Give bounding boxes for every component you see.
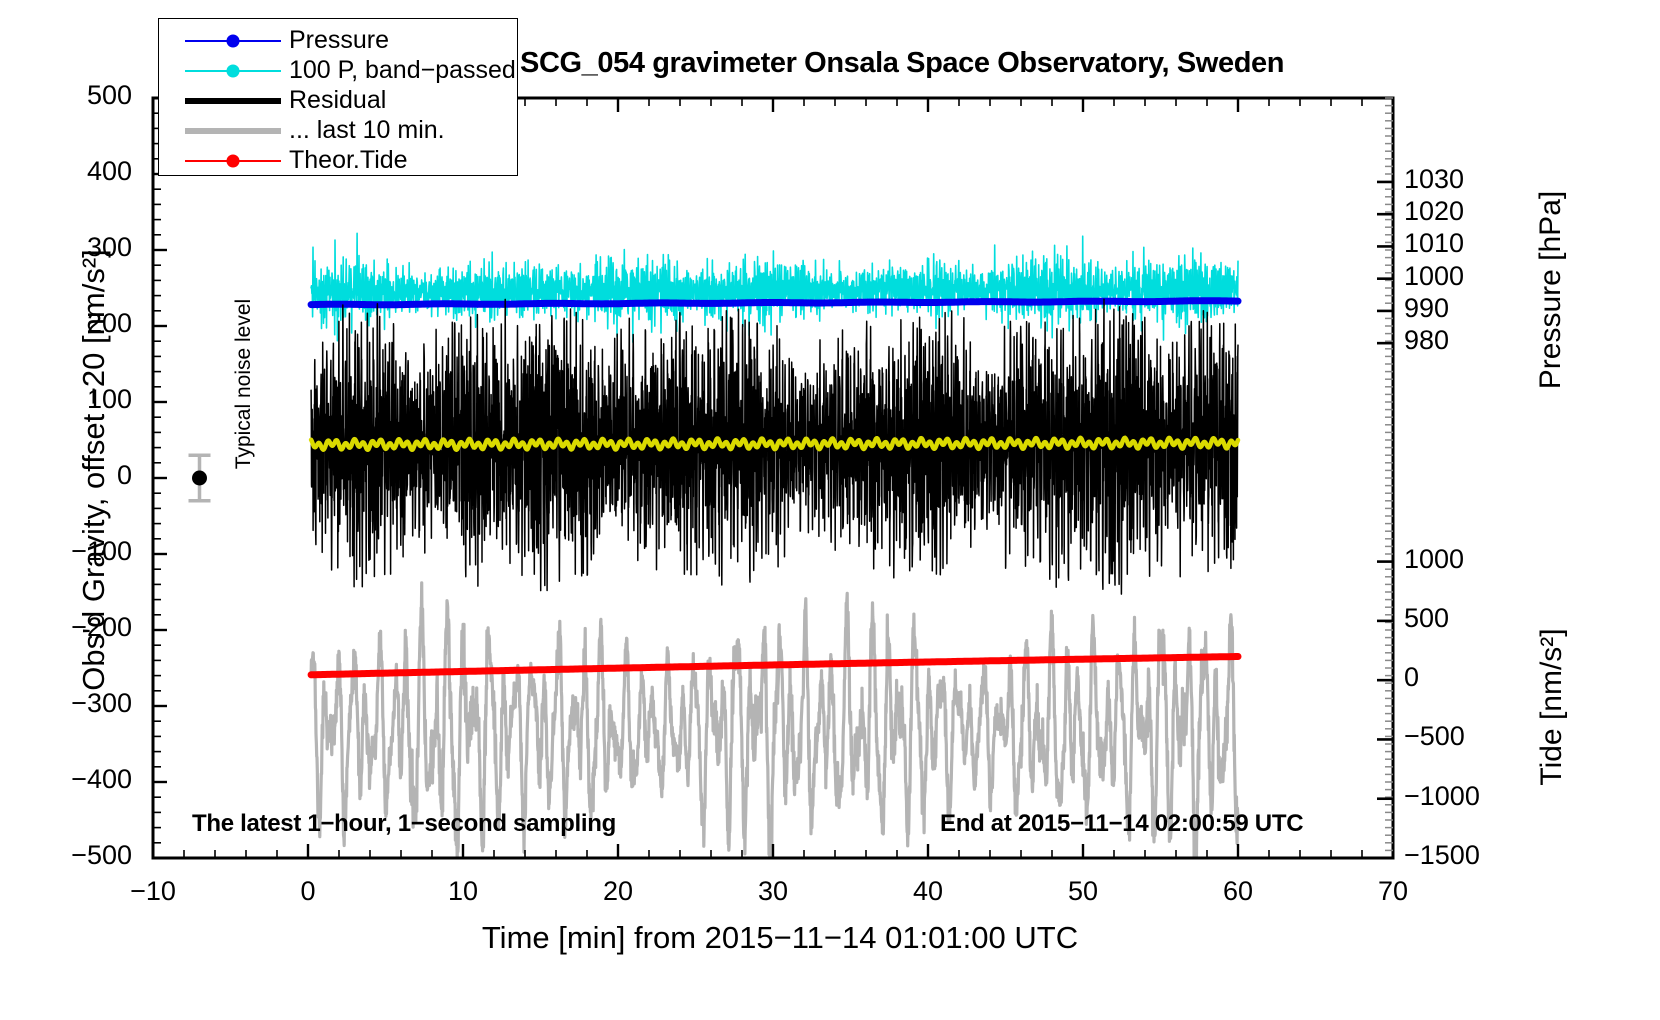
y-tick-left-10: −500 bbox=[22, 840, 132, 871]
legend-line-icon bbox=[185, 128, 281, 134]
y-tick-pressure-3: 1000 bbox=[1404, 261, 1514, 292]
x-tick-1: 0 bbox=[263, 876, 353, 907]
legend-line-icon bbox=[185, 98, 281, 104]
y-tick-tide-4: −1000 bbox=[1404, 781, 1514, 812]
chart-page: SCG_054 gravimeter Onsala Space Observat… bbox=[0, 0, 1660, 1020]
x-tick-8: 70 bbox=[1348, 876, 1438, 907]
y-tick-pressure-4: 990 bbox=[1404, 293, 1514, 324]
legend-swatch-0 bbox=[185, 25, 281, 56]
y-tick-left-7: −200 bbox=[22, 612, 132, 643]
legend-label-0: Pressure bbox=[289, 25, 389, 56]
series-pressure bbox=[311, 301, 1238, 305]
x-tick-3: 20 bbox=[573, 876, 663, 907]
typical-noise-errorbar bbox=[189, 455, 211, 501]
series-pressure-bandpassed bbox=[311, 233, 1238, 342]
chart-legend: Pressure100 P, band−passedResidual... la… bbox=[158, 18, 518, 176]
y-tick-pressure-0: 1030 bbox=[1404, 164, 1514, 195]
y-tick-left-9: −400 bbox=[22, 764, 132, 795]
annotation-sampling-note: The latest 1−hour, 1−second sampling bbox=[192, 810, 616, 838]
y-tick-left-2: 300 bbox=[22, 232, 132, 263]
y-tick-left-8: −300 bbox=[22, 688, 132, 719]
legend-swatch-1 bbox=[185, 55, 281, 86]
annotation-end-time: End at 2015−11−14 02:00:59 UTC bbox=[940, 810, 1303, 838]
legend-label-2: Residual bbox=[289, 85, 386, 116]
x-axis-label: Time [min] from 2015−11−14 01:01:00 UTC bbox=[230, 920, 1330, 956]
legend-item-4[interactable]: Theor.Tide bbox=[159, 145, 517, 176]
y-tick-tide-5: −1500 bbox=[1404, 840, 1514, 871]
errorbar-point bbox=[192, 471, 207, 486]
x-tick-5: 40 bbox=[883, 876, 973, 907]
y-tick-left-3: 200 bbox=[22, 308, 132, 339]
y-tick-tide-2: 0 bbox=[1404, 662, 1514, 693]
y-tick-tide-1: 500 bbox=[1404, 603, 1514, 634]
y-tick-left-1: 400 bbox=[22, 156, 132, 187]
x-tick-0: −10 bbox=[108, 876, 198, 907]
x-tick-2: 10 bbox=[418, 876, 508, 907]
y-tick-left-6: −100 bbox=[22, 536, 132, 567]
legend-item-0[interactable]: Pressure bbox=[159, 25, 517, 56]
legend-label-1: 100 P, band−passed bbox=[289, 55, 516, 86]
legend-label-3: ... last 10 min. bbox=[289, 115, 445, 146]
legend-item-1[interactable]: 100 P, band−passed bbox=[159, 55, 517, 86]
annotation-noise-level: Typical noise level bbox=[232, 279, 256, 489]
x-tick-4: 30 bbox=[728, 876, 818, 907]
y-tick-pressure-2: 1010 bbox=[1404, 228, 1514, 259]
legend-swatch-3 bbox=[185, 115, 281, 146]
series-layer bbox=[311, 233, 1238, 877]
x-tick-7: 60 bbox=[1193, 876, 1283, 907]
y-tick-left-4: 100 bbox=[22, 384, 132, 415]
y-axis-label-tide: Tide [nm/s²] bbox=[1535, 547, 1569, 867]
y-tick-tide-3: −500 bbox=[1404, 721, 1514, 752]
legend-marker-dot-icon bbox=[227, 64, 240, 77]
legend-item-3[interactable]: ... last 10 min. bbox=[159, 115, 517, 146]
x-tick-6: 50 bbox=[1038, 876, 1128, 907]
y-tick-tide-0: 1000 bbox=[1404, 544, 1514, 575]
y-tick-left-5: 0 bbox=[22, 460, 132, 491]
page-title: SCG_054 gravimeter Onsala Space Observat… bbox=[520, 47, 1400, 80]
legend-marker-dot-icon bbox=[227, 34, 240, 47]
legend-swatch-4 bbox=[185, 145, 281, 176]
y-tick-pressure-5: 980 bbox=[1404, 325, 1514, 356]
legend-swatch-2 bbox=[185, 85, 281, 116]
legend-label-4: Theor.Tide bbox=[289, 145, 408, 176]
y-tick-left-0: 500 bbox=[22, 80, 132, 111]
y-tick-pressure-1: 1020 bbox=[1404, 196, 1514, 227]
y-axis-label-pressure: Pressure [hPa] bbox=[1534, 125, 1568, 455]
legend-marker-dot-icon bbox=[227, 154, 240, 167]
legend-item-2[interactable]: Residual bbox=[159, 85, 517, 116]
